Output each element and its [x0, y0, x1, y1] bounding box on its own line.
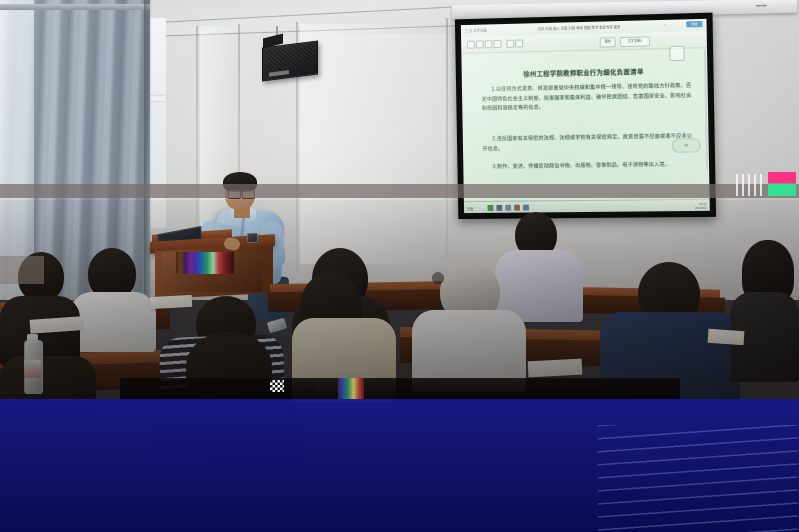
paper-sheets [150, 295, 193, 309]
projection-screen: 三 五 文字文稿 文件 开始 插入 页面 引用 审阅 视图 章节 会员专享 更多… [455, 13, 716, 219]
wall-seam [196, 26, 198, 256]
curtain-edge-shadow [144, 0, 152, 300]
paper-sheets [708, 329, 745, 345]
curtain-rod [0, 4, 150, 10]
wristwatch-icon [247, 233, 258, 243]
glasses-icon [242, 190, 255, 199]
bottle-label [24, 360, 41, 378]
audience-body [70, 292, 156, 352]
screen-brand-label: ▬▬ [756, 2, 767, 8]
audience-body [0, 356, 96, 416]
speaker-grill [266, 45, 314, 72]
striped-shirt-ghost [598, 425, 798, 532]
audience-head [432, 272, 444, 284]
audience-head [18, 252, 64, 302]
wall-panel [300, 24, 440, 264]
glasses-bridge [239, 193, 242, 194]
wall-seam [446, 18, 448, 258]
glasses-icon [228, 190, 241, 199]
screenshot-canvas: ▬▬ 三 五 文字文稿 文件 开始 插入 页面 引用 审阅 视图 章节 会员专享… [0, 0, 799, 532]
blue-overlay-artifact [0, 399, 799, 532]
audience-body [152, 388, 302, 460]
screen-glare [461, 19, 710, 213]
presenter-hair [223, 172, 257, 192]
audience-body [600, 312, 740, 402]
blue-overlay-artifact-top [0, 399, 799, 532]
mobile-phone[interactable] [299, 379, 315, 391]
audience-body [412, 310, 526, 392]
projection-surface: 三 五 文字文稿 文件 开始 插入 页面 引用 审阅 视图 章节 会员专享 更多… [461, 19, 710, 213]
wall-speaker-icon [262, 41, 318, 82]
paper-sheets [528, 359, 583, 378]
podium-front-panel [162, 252, 262, 292]
